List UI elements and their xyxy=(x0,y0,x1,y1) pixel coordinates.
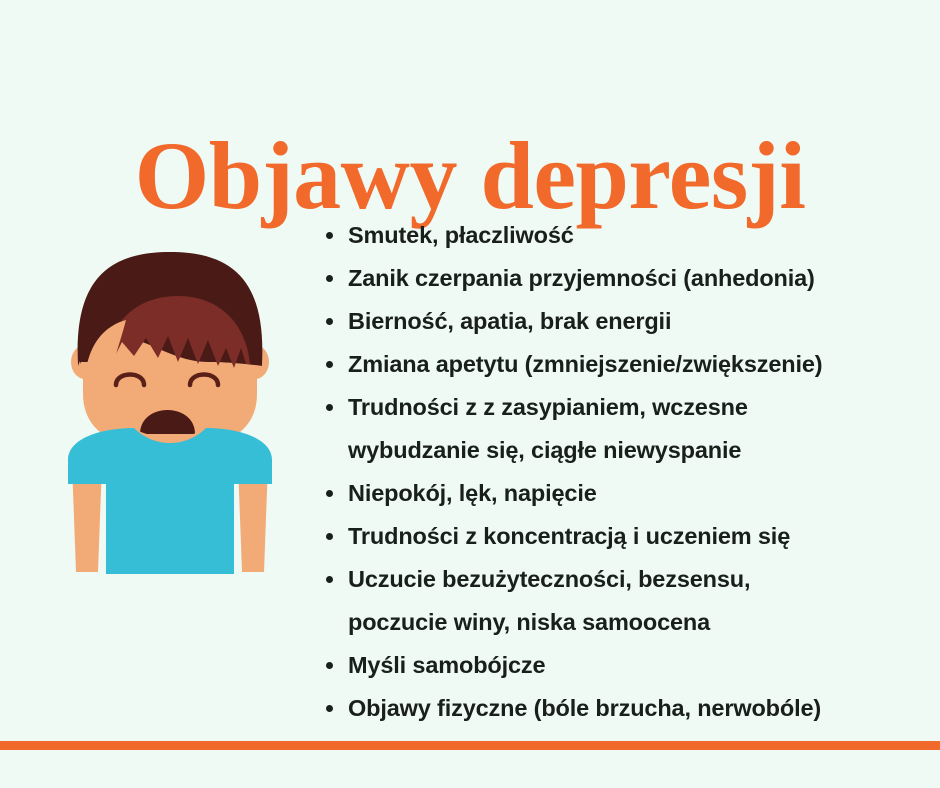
list-item: Trudności z koncentracją i uczeniem się xyxy=(318,515,918,558)
bullet-icon xyxy=(326,361,333,368)
sad-boy-illustration xyxy=(58,252,308,582)
symptom-text: Myśli samobójcze xyxy=(348,652,545,678)
bullet-icon xyxy=(326,533,333,540)
depression-symptoms-poster: Objawy depresji xyxy=(0,0,940,788)
bullet-icon xyxy=(326,275,333,282)
list-item: Bierność, apatia, brak energii xyxy=(318,300,918,343)
bullet-icon xyxy=(326,232,333,239)
list-item: Smutek, płaczliwość xyxy=(318,214,918,257)
symptom-text: Zmiana apetytu (zmniejszenie/zwiększenie… xyxy=(348,351,822,377)
list-item: Myśli samobójcze xyxy=(318,644,918,687)
list-item: Objawy fizyczne (bóle brzucha, nerwobóle… xyxy=(318,687,918,730)
symptom-text-continued: poczucie winy, niska samoocena xyxy=(348,601,918,644)
list-item: Trudności z z zasypianiem, wczesne wybud… xyxy=(318,386,918,472)
list-item: Uczucie bezużyteczności, bezsensu, poczu… xyxy=(318,558,918,644)
symptom-list: Smutek, płaczliwość Zanik czerpania przy… xyxy=(318,214,918,730)
bullet-icon xyxy=(326,318,333,325)
bullet-icon xyxy=(326,576,333,583)
bullet-icon xyxy=(326,662,333,669)
bullet-icon xyxy=(326,705,333,712)
bullet-icon xyxy=(326,490,333,497)
orange-divider-bar xyxy=(0,741,940,750)
symptom-text-continued: wybudzanie się, ciągłe niewyspanie xyxy=(348,429,918,472)
symptom-text: Niepokój, lęk, napięcie xyxy=(348,480,597,506)
symptom-text: Bierność, apatia, brak energii xyxy=(348,308,671,334)
list-item: Zanik czerpania przyjemności (anhedonia) xyxy=(318,257,918,300)
list-item: Zmiana apetytu (zmniejszenie/zwiększenie… xyxy=(318,343,918,386)
sad-boy-svg xyxy=(58,252,308,582)
symptom-text: Trudności z koncentracją i uczeniem się xyxy=(348,523,790,549)
symptom-text: Uczucie bezużyteczności, bezsensu, xyxy=(348,566,750,592)
bullet-icon xyxy=(326,404,333,411)
page-title: Objawy depresji xyxy=(0,126,940,227)
symptom-text: Zanik czerpania przyjemności (anhedonia) xyxy=(348,265,815,291)
symptom-text: Smutek, płaczliwość xyxy=(348,222,574,248)
symptom-text: Objawy fizyczne (bóle brzucha, nerwobóle… xyxy=(348,695,821,721)
symptom-text: Trudności z z zasypianiem, wczesne xyxy=(348,394,748,420)
list-item: Niepokój, lęk, napięcie xyxy=(318,472,918,515)
